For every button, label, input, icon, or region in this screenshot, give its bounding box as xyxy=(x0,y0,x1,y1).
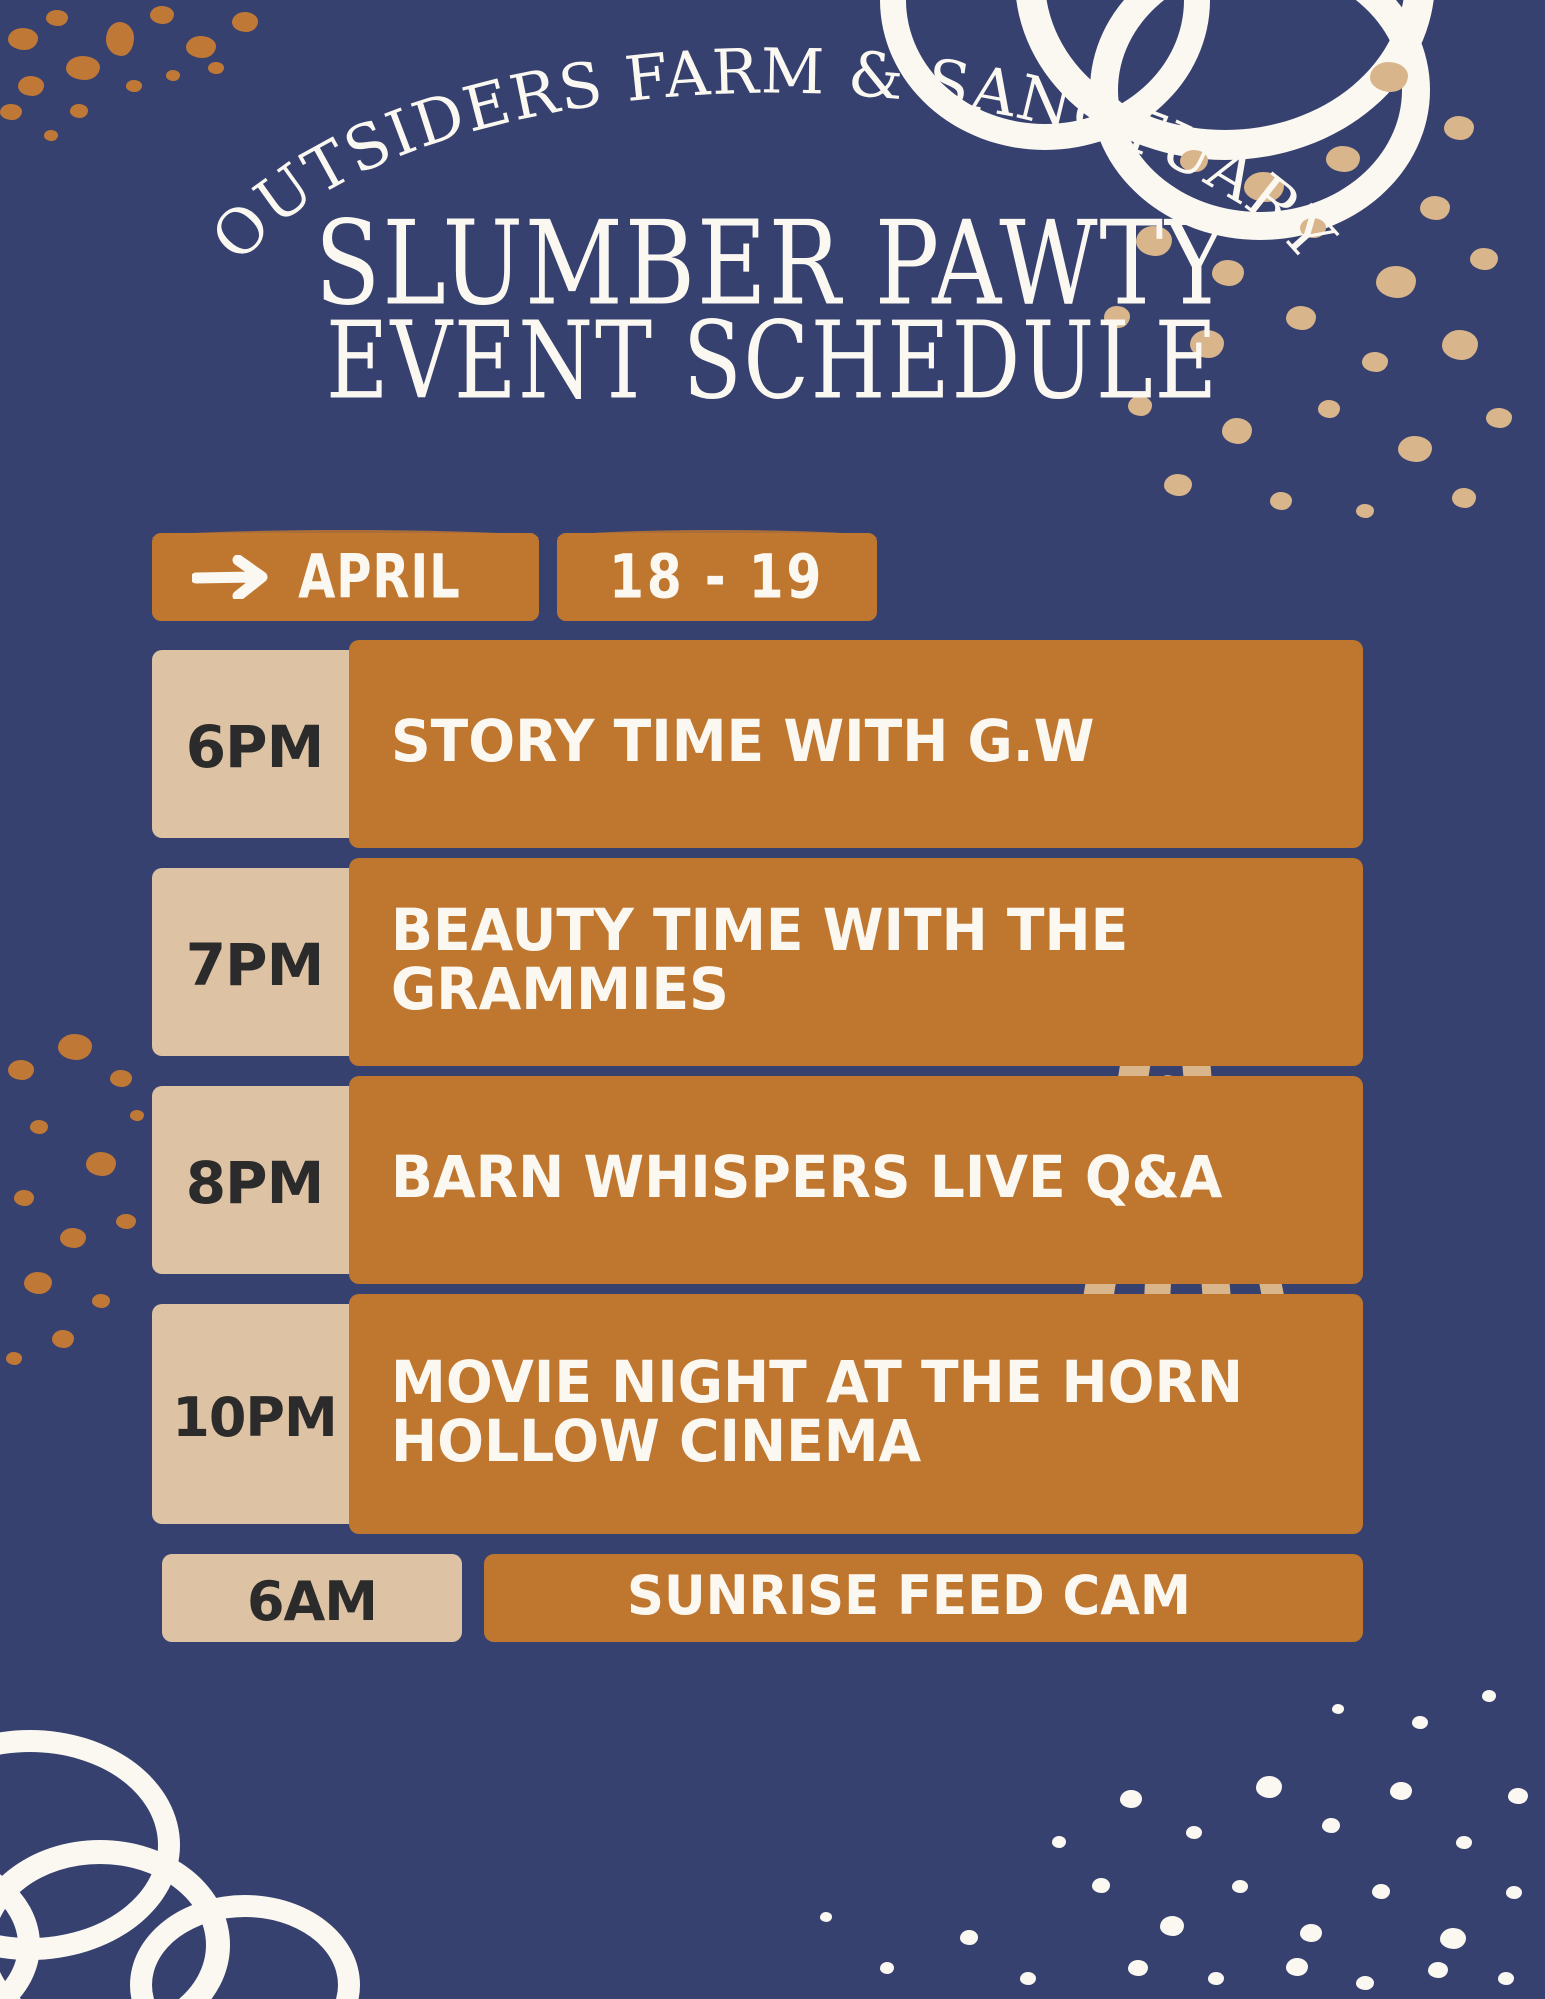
month-label: APRIL xyxy=(298,542,521,612)
days-chip: 18 - 19 xyxy=(557,533,877,621)
schedule-row-time: 8PM xyxy=(152,1086,357,1274)
arrow-right-icon xyxy=(192,555,280,599)
schedule-row-event: STORY TIME WITH G.W xyxy=(349,640,1363,848)
page-subtitle: EVENT SCHEDULE xyxy=(54,308,1491,415)
schedule-row-time: 7PM xyxy=(152,868,357,1056)
schedule-row-event: BARN WHISPERS LIVE Q&A xyxy=(349,1076,1363,1284)
schedule-row-event-label: MOVIE NIGHT AT THE HORN HOLLOW CINEMA xyxy=(391,1353,1290,1471)
schedule-row-event: MOVIE NIGHT AT THE HORN HOLLOW CINEMA xyxy=(349,1294,1363,1534)
schedule-row-event-label: SUNRISE FEED CAM xyxy=(627,1568,1191,1623)
schedule-row-event-label: BARN WHISPERS LIVE Q&A xyxy=(391,1148,1222,1207)
date-bar: APRIL 18 - 19 xyxy=(152,533,1363,621)
schedule-row: 6AM SUNRISE FEED CAM xyxy=(152,1554,1363,1642)
schedule-row-event: SUNRISE FEED CAM xyxy=(484,1554,1363,1642)
month-chip: APRIL xyxy=(152,533,539,621)
days-label: 18 - 19 xyxy=(609,542,824,612)
schedule-list: 6PM STORY TIME WITH G.W 7PM BEAUTY TIME … xyxy=(152,650,1363,1642)
schedule-row-event-label: STORY TIME WITH G.W xyxy=(391,712,1094,771)
schedule-row: 10PM MOVIE NIGHT AT THE HORN HOLLOW CINE… xyxy=(152,1304,1363,1524)
schedule-row-time: 10PM xyxy=(152,1304,357,1524)
event-schedule-poster: OUTSIDERS FARM & SANCTUARY SLUMBER PAWTY… xyxy=(0,0,1545,1999)
schedule-row-time: 6AM xyxy=(162,1554,462,1642)
schedule-row: 6PM STORY TIME WITH G.W xyxy=(152,650,1363,838)
schedule-row: 7PM BEAUTY TIME WITH THE GRAMMIES xyxy=(152,868,1363,1056)
schedule-row-time: 6PM xyxy=(152,650,357,838)
poster-header: OUTSIDERS FARM & SANCTUARY SLUMBER PAWTY… xyxy=(0,0,1545,500)
schedule-row: 8PM BARN WHISPERS LIVE Q&A xyxy=(152,1086,1363,1274)
schedule-row-event: BEAUTY TIME WITH THE GRAMMIES xyxy=(349,858,1363,1066)
schedule-row-event-label: BEAUTY TIME WITH THE GRAMMIES xyxy=(391,901,1290,1019)
